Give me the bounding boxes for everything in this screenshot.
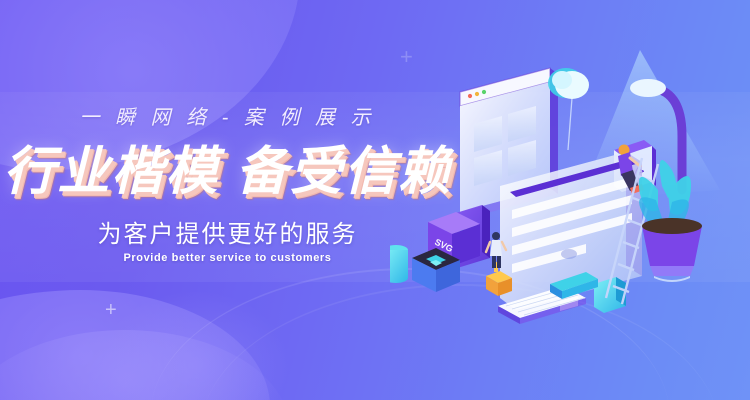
cyan-cylinder [390, 245, 408, 283]
banner-headline: 行业楷模 备受信赖 [0, 144, 455, 200]
plus-sparkle-icon: + [105, 300, 117, 320]
background-blob-center [100, 290, 290, 400]
banner-eyebrow: 一 瞬 网 络 - 案 例 展 示 [0, 104, 455, 132]
background-blob-bottom-left [0, 290, 270, 400]
banner-subtitle-en: Provide better service to customers [0, 252, 455, 264]
promo-banner: + + 一 瞬 网 络 - 案 例 展 示 行业楷模 备受信赖 为客户提供更好的… [0, 0, 750, 400]
hero-illustration: </> [390, 40, 750, 370]
banner-text-block: 一 瞬 网 络 - 案 例 展 示 行业楷模 备受信赖 为客户提供更好的服务 P… [0, 104, 455, 264]
banner-subtitle: 为客户提供更好的服务 [0, 214, 455, 249]
background-blob-bottom [0, 330, 290, 400]
